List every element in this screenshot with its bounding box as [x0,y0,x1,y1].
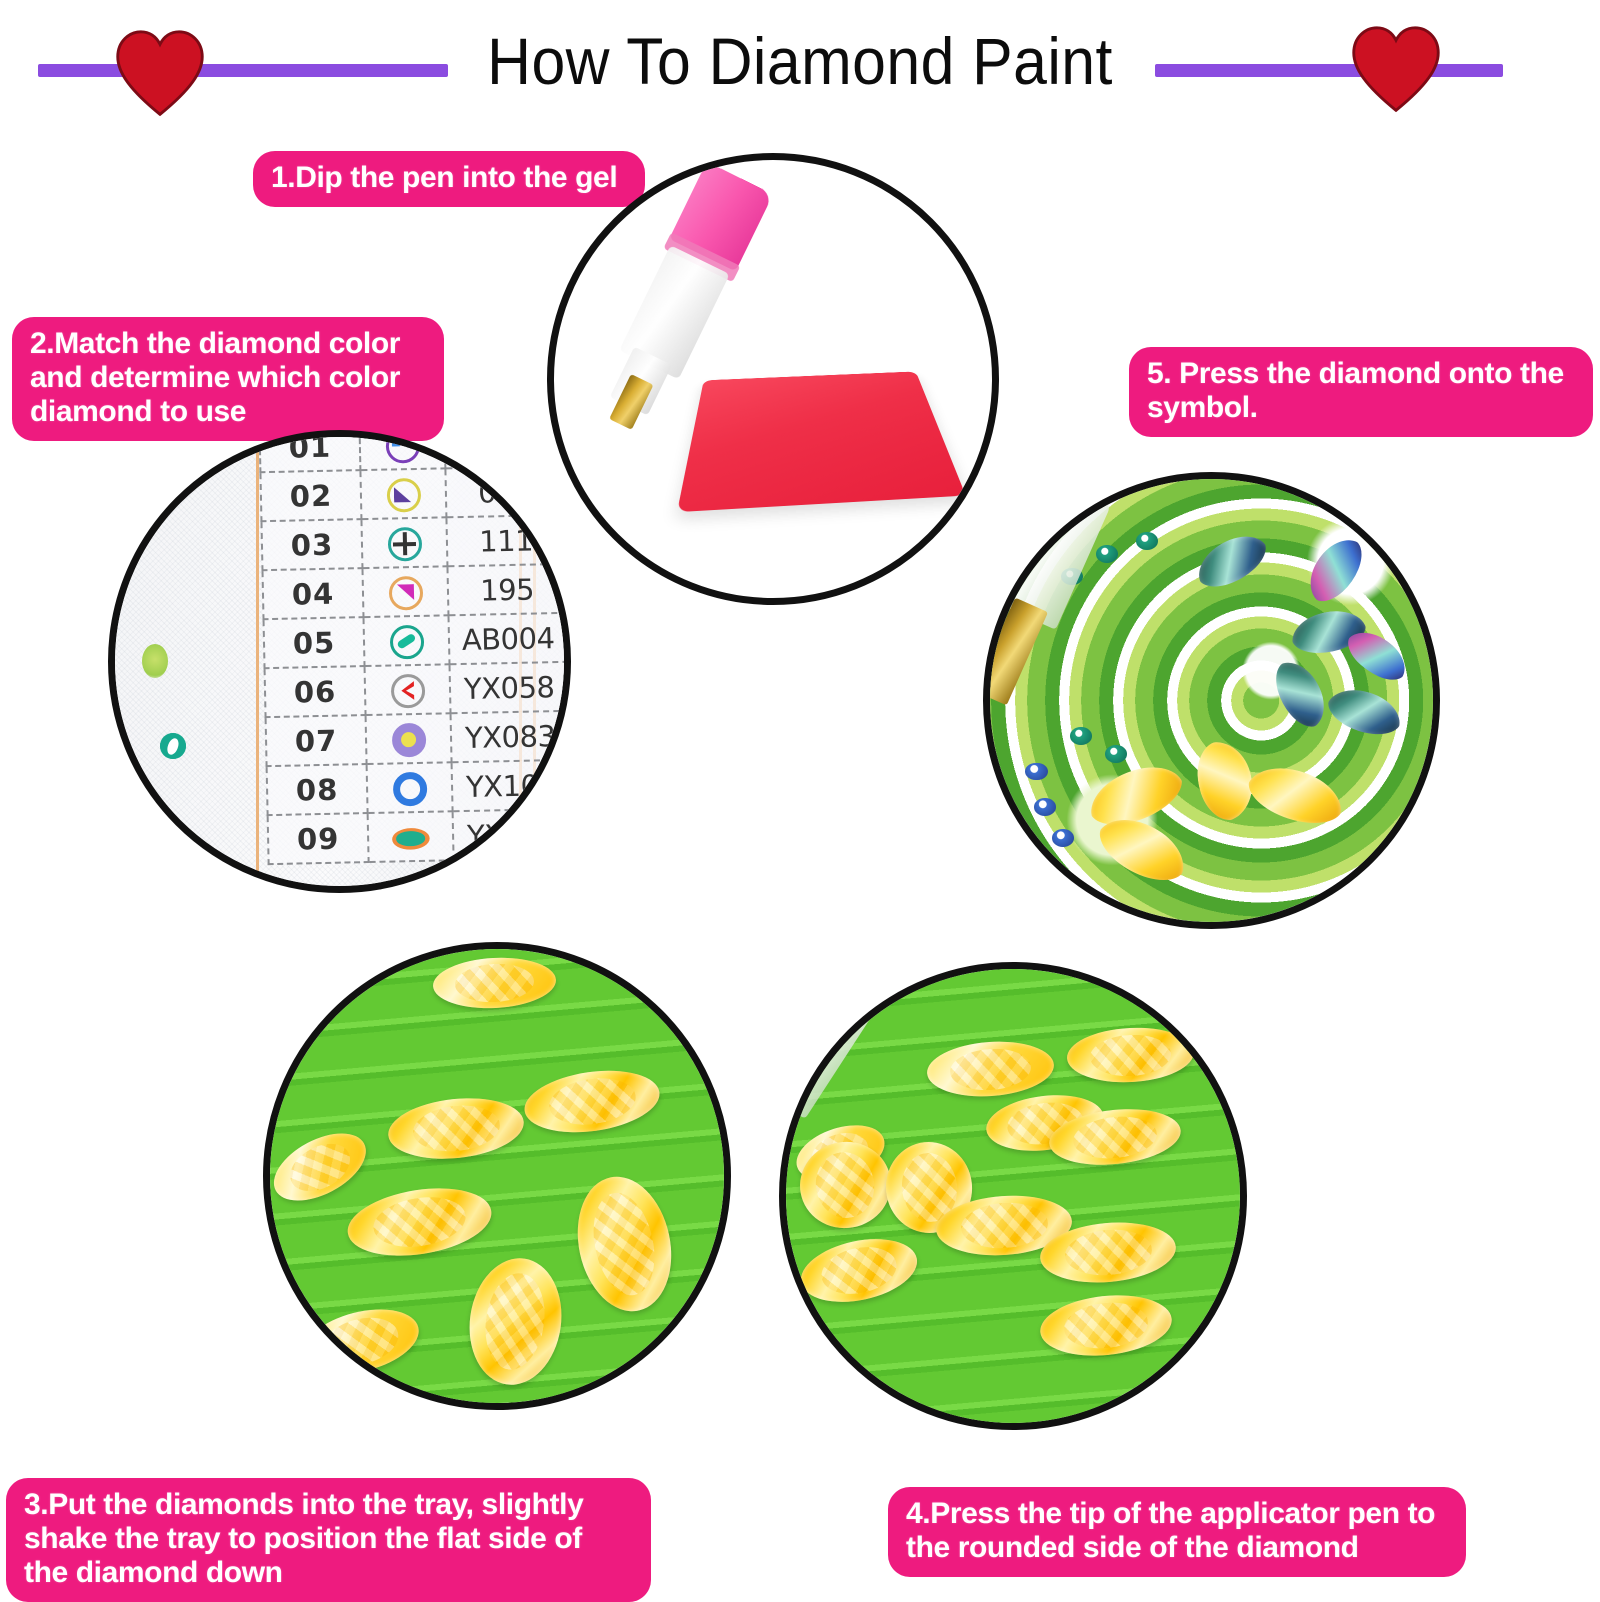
gem-blue-dot [1025,763,1047,781]
symbol-chart-row: 02093 [261,466,565,521]
symbol-chart-index: 04 [263,568,364,619]
symbol-inner-mark [392,437,413,447]
symbol-chart-code: YX106 [452,760,571,811]
symbol-chart-index: 01 [260,430,361,472]
symbol-inner-mark [397,584,415,601]
symbol-inner-mark [396,831,425,846]
gem-teal-dot [1136,532,1158,550]
symbol-inner-mark [401,681,415,700]
symbol-chart-code: 195 [448,564,567,615]
purple-circle-two-blue-dots-icon [360,430,446,470]
step-5-label: 5. Press the diamond onto the symbol. [1129,347,1593,437]
gem-blue-dot [1052,829,1074,847]
symbol-chart-code: YX125 [453,809,571,860]
chart-guide-line [256,437,259,886]
teal-circle-cross-icon [362,517,448,568]
symbol-chart-row: 09YX125 [268,809,571,864]
symbol-chart-index: 03 [262,519,363,570]
symbol-glyph [392,827,430,850]
symbol-chart-body: 0102802093031110419505AB00406YX05807YX08… [260,430,571,864]
symbol-inner-mark [396,633,417,650]
symbol-chart-code: 028 [445,430,564,468]
pen-dipped-in-gel-photo [547,153,999,605]
orange-leaf-teal-fill-icon [368,811,454,862]
purple-ring-yellow-center-icon [366,713,452,764]
symbol-chart-code: 111 [447,515,566,566]
symbol-chart-index: 05 [264,617,365,668]
symbol-color-chart-photo: 0102802093031110419505AB00406YX05807YX08… [108,430,571,893]
teal-circle-pill-icon [364,615,450,666]
symbol-chart-index: 08 [267,764,368,815]
symbol-inner-mark [393,542,417,546]
symbol-glyph [392,771,427,806]
symbol-chart-row: 07YX083 [266,711,570,766]
symbol-glyph [388,575,423,610]
symbol-chart-code: YX058 [450,662,569,713]
stray-symbol-green [142,644,168,678]
gem-blue-dot [1034,798,1056,816]
orange-circle-magenta-triangle-icon [363,566,449,617]
gel-pad [677,371,966,511]
symbol-chart-code: 093 [446,466,565,517]
symbol-chart-index: 02 [261,470,362,521]
symbol-chart-row: 06YX058 [265,662,569,717]
symbol-glyph [387,526,422,561]
blue-ring-donut-icon [367,762,453,813]
yellow-circle-purple-triangle-icon [361,468,447,519]
symbol-chart-row: 04195 [263,564,567,619]
symbol-chart-code: AB004 [449,613,568,664]
diamonds-in-green-tray-photo [263,942,731,1410]
symbol-glyph [389,624,424,659]
symbol-chart-code: YX083 [451,711,570,762]
gray-circle-red-chevron-icon [365,664,451,715]
symbol-glyph [391,722,426,757]
symbol-chart-index: 09 [268,813,369,864]
page-title: How To Diamond Paint [64,28,1536,94]
symbol-chart-row: 05AB004 [264,613,568,668]
diamond-pressed-on-canvas-photo [983,472,1440,929]
symbol-chart-row: 08YX106 [267,760,571,815]
symbol-inner-mark [394,487,412,503]
symbol-glyph [390,673,425,708]
symbol-chart-index: 07 [266,715,367,766]
symbol-chart-index: 06 [265,666,366,717]
gem-teal-dot [1105,745,1127,763]
infographic-canvas: How To Diamond Paint 1.Dip the pen into … [0,0,1600,1600]
gem-teal-dot [1070,727,1092,745]
pen-picking-up-diamond-photo [779,962,1247,1430]
symbol-glyph [386,477,421,512]
symbol-chart-table: 0102802093031110419505AB00406YX05807YX08… [259,430,571,865]
symbol-inner-mark [401,732,417,748]
step-4-label: 4.Press the tip of the applicator pen to… [888,1487,1466,1577]
step-3-label: 3.Put the diamonds into the tray, slight… [6,1478,651,1602]
step-2-label: 2.Match the diamond color and determine … [12,317,444,441]
symbol-chart-row: 03111 [262,515,566,570]
